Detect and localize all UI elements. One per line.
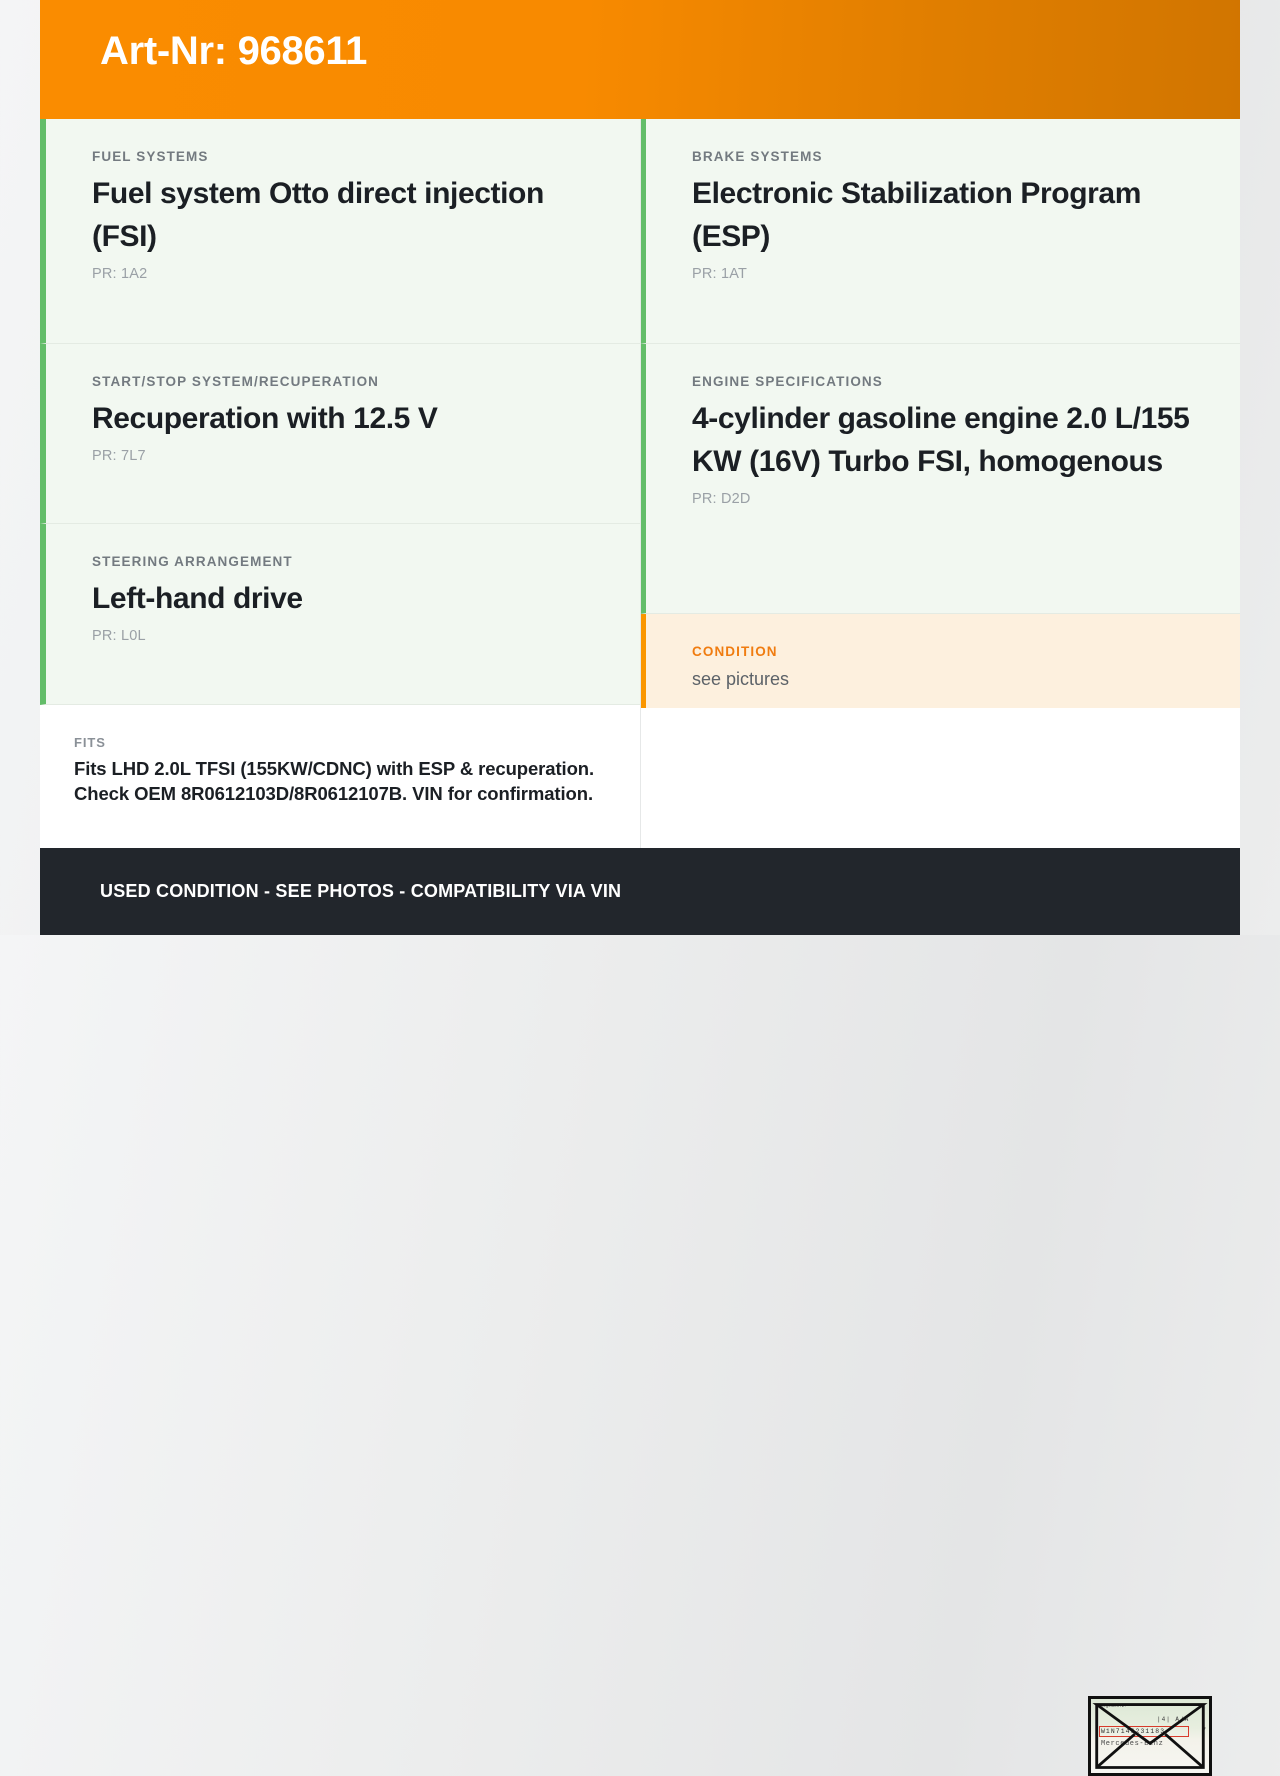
vin-document-thumbnail[interactable]: Fahrgestell-Nr. |4| A/A W1N7146231183 7 … — [1088, 1696, 1212, 1776]
spec-label: FITS — [74, 735, 594, 750]
spec-value: 4-cylinder gasoline engine 2.0 L/155 KW … — [692, 398, 1194, 484]
spec-pr-code: PR: D2D — [692, 491, 1194, 507]
spec-column-left: FUEL SYSTEMS Fuel system Otto direct inj… — [40, 119, 640, 848]
spec-label: START/STOP SYSTEM/RECUPERATION — [92, 374, 594, 389]
spec-label: FUEL SYSTEMS — [92, 149, 594, 164]
product-spec-card: Art-Nr: 968611 FUEL SYSTEMS Fuel system … — [40, 0, 1240, 935]
spec-pr-code: PR: 1A2 — [92, 266, 594, 282]
spec-column-right-filler — [640, 708, 1240, 851]
spec-card-engine-specifications: ENGINE SPECIFICATIONS 4-cylinder gasolin… — [640, 344, 1240, 614]
spec-grid: FUEL SYSTEMS Fuel system Otto direct inj… — [40, 119, 1240, 848]
footer-banner: USED CONDITION - SEE PHOTOS - COMPATIBIL… — [40, 848, 1240, 935]
page-title: Art-Nr: 968611 — [100, 29, 367, 74]
spec-value: Fuel system Otto direct injection (FSI) — [92, 173, 594, 259]
spec-card-condition: CONDITION see pictures — [640, 614, 1240, 708]
spec-card-steering-arrangement: STEERING ARRANGEMENT Left-hand drive PR:… — [40, 524, 640, 705]
spec-pr-code: PR: 1AT — [692, 266, 1194, 282]
spec-pr-code: PR: 7L7 — [92, 448, 594, 464]
footer-text: USED CONDITION - SEE PHOTOS - COMPATIBIL… — [100, 881, 621, 902]
spec-label: BRAKE SYSTEMS — [692, 149, 1194, 164]
spec-label: STEERING ARRANGEMENT — [92, 554, 594, 569]
condition-label: CONDITION — [692, 644, 1194, 659]
envelope-icon — [1091, 1699, 1209, 1773]
condition-value: see pictures — [692, 668, 1194, 691]
spec-value: Recuperation with 12.5 V — [92, 398, 594, 441]
spec-pr-code: PR: L0L — [92, 628, 594, 644]
spec-card-brake-systems: BRAKE SYSTEMS Electronic Stabilization P… — [640, 119, 1240, 344]
spec-value: Left-hand drive — [92, 578, 594, 621]
spec-value: Fits LHD 2.0L TFSI (155KW/CDNC) with ESP… — [74, 757, 594, 806]
spec-column-right: BRAKE SYSTEMS Electronic Stabilization P… — [640, 119, 1240, 848]
spec-card-fuel-systems: FUEL SYSTEMS Fuel system Otto direct inj… — [40, 119, 640, 344]
header-banner: Art-Nr: 968611 — [40, 0, 1240, 119]
spec-value: Electronic Stabilization Program (ESP) — [692, 173, 1194, 259]
column-divider — [640, 119, 641, 848]
spec-card-fits: FITS Fits LHD 2.0L TFSI (155KW/CDNC) wit… — [40, 705, 640, 848]
spec-label: ENGINE SPECIFICATIONS — [692, 374, 1194, 389]
spec-card-start-stop-recuperation: START/STOP SYSTEM/RECUPERATION Recuperat… — [40, 344, 640, 524]
